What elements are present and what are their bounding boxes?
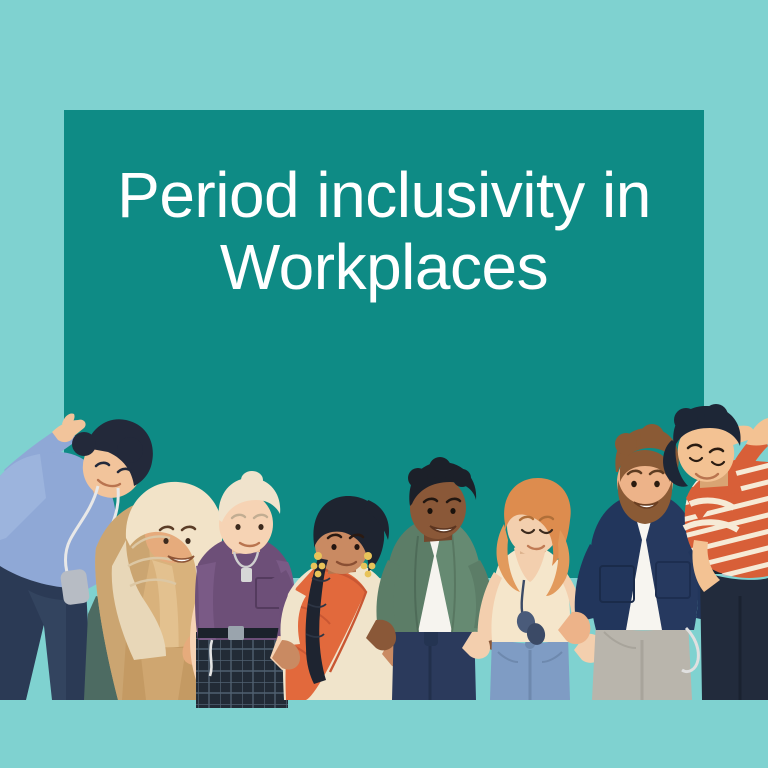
poster-canvas: Period inclusivity in Workplaces [0,0,768,768]
page-title: Period inclusivity in Workplaces [64,160,704,303]
